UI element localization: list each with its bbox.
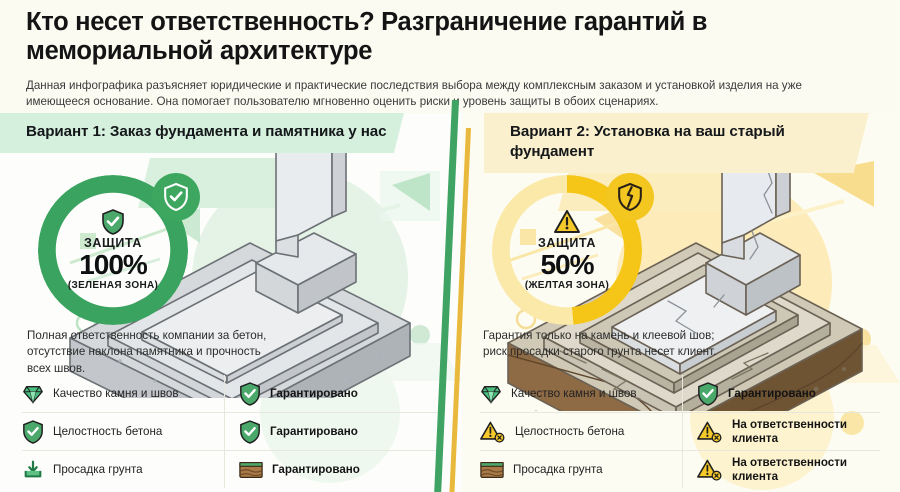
row-status-cell: Гарантировано (225, 451, 440, 488)
shield-check-icon (239, 382, 261, 406)
panel-option-2: Вариант 2: Установка на ваш старый фунда… (462, 113, 900, 492)
row-status-cell: Гарантировано (225, 413, 440, 450)
row-status: Гарантировано (261, 387, 358, 401)
row-status: Гарантировано (719, 387, 816, 401)
warning-x-icon (480, 420, 506, 444)
table-row: Просадка грунта На ответственности клиен… (480, 451, 880, 488)
right-panel-note: Гарантия только на камень и клеевой шов;… (483, 328, 733, 361)
row-label-cell: Просадка грунта (22, 451, 225, 488)
row-label: Качество камня и швов (502, 387, 637, 400)
row-status-cell: На ответственности клиента (683, 451, 880, 488)
protection-gauge-green: ЗАЩИТА 100% (ЗЕЛЕНАЯ ЗОНА) (38, 175, 188, 325)
right-panel-header-bar: Вариант 2: Установка на ваш старый фунда… (484, 113, 869, 173)
gauge-value-yellow: 50% (492, 250, 642, 280)
row-label: Просадка грунта (504, 463, 603, 476)
header: Кто несет ответственность? Разграничение… (26, 8, 876, 109)
gauge-label-green: ЗАЩИТА (38, 236, 188, 250)
warning-x-icon (697, 458, 723, 482)
panel-option-1: Вариант 1: Заказ фундамента и памятника … (0, 113, 462, 492)
row-status: Гарантировано (263, 463, 360, 477)
row-status: На ответственности клиента (723, 418, 880, 445)
row-label: Целостность бетона (506, 425, 624, 438)
row-status-cell: Гарантировано (683, 375, 880, 412)
shield-check-icon (239, 420, 261, 444)
right-panel-table: Качество камня и швов Гарантировано (480, 375, 880, 488)
row-label-cell: Качество камня и швов (480, 375, 683, 412)
page-subtitle: Данная инфографика разъясняет юридически… (26, 78, 866, 109)
row-status: Гарантировано (261, 425, 358, 439)
gauge-zone-green: (ЗЕЛЕНАЯ ЗОНА) (38, 280, 188, 291)
left-panel-note: Полная ответственность компании за бетон… (27, 328, 282, 377)
diamond-icon (480, 383, 502, 405)
gauge-center-yellow: ЗАЩИТА 50% (ЖЕЛТАЯ ЗОНА) (492, 209, 642, 291)
left-panel-header-text: Вариант 1: Заказ фундамента и памятника … (0, 122, 404, 142)
soil-layers-icon (239, 459, 263, 481)
row-label: Просадка грунта (44, 463, 143, 476)
row-status: На ответственности клиента (723, 456, 880, 483)
table-row: Целостность бетона Гарантировано (22, 413, 440, 451)
gauge-center-green: ЗАЩИТА 100% (ЗЕЛЕНАЯ ЗОНА) (38, 209, 188, 291)
broken-shield-icon (617, 182, 643, 212)
left-panel-table: Качество камня и швов Гарантировано (22, 375, 440, 488)
gauge-value-green: 100% (38, 250, 188, 280)
gauge-label-yellow: ЗАЩИТА (492, 236, 642, 250)
shield-check-icon (697, 382, 719, 406)
row-label: Целостность бетона (44, 425, 162, 438)
infographic-page: Кто несет ответственность? Разграничение… (0, 0, 900, 492)
table-row: Качество камня и швов Гарантировано (22, 375, 440, 413)
soil-layers-icon (480, 459, 504, 481)
row-status-cell: На ответственности клиента (683, 413, 880, 450)
row-label-cell: Целостность бетона (22, 413, 225, 450)
shield-check-icon (22, 420, 44, 444)
table-row: Качество камня и швов Гарантировано (480, 375, 880, 413)
row-status-cell: Гарантировано (225, 375, 440, 412)
table-row: Целостность бетона На ответственности кл… (480, 413, 880, 451)
row-label: Качество камня и швов (44, 387, 179, 400)
settlement-arrow-icon (22, 459, 44, 481)
right-panel-header-text: Вариант 2: Установка на ваш старый фунда… (484, 122, 869, 162)
row-label-cell: Целостность бетона (480, 413, 683, 450)
page-title: Кто несет ответственность? Разграничение… (26, 8, 876, 66)
row-label-cell: Просадка грунта (480, 451, 683, 488)
diamond-icon (22, 383, 44, 405)
gauge-zone-yellow: (ЖЕЛТАЯ ЗОНА) (492, 280, 642, 291)
protection-gauge-yellow: ЗАЩИТА 50% (ЖЕЛТАЯ ЗОНА) (492, 175, 642, 325)
gauge-badge-yellow (606, 173, 654, 221)
shield-check-icon (163, 182, 189, 212)
gauge-badge-green (152, 173, 200, 221)
table-row: Просадка грунта Гарантировано (22, 451, 440, 488)
warning-x-icon (697, 420, 723, 444)
left-panel-header-bar: Вариант 1: Заказ фундамента и памятника … (0, 113, 404, 153)
row-label-cell: Качество камня и швов (22, 375, 225, 412)
